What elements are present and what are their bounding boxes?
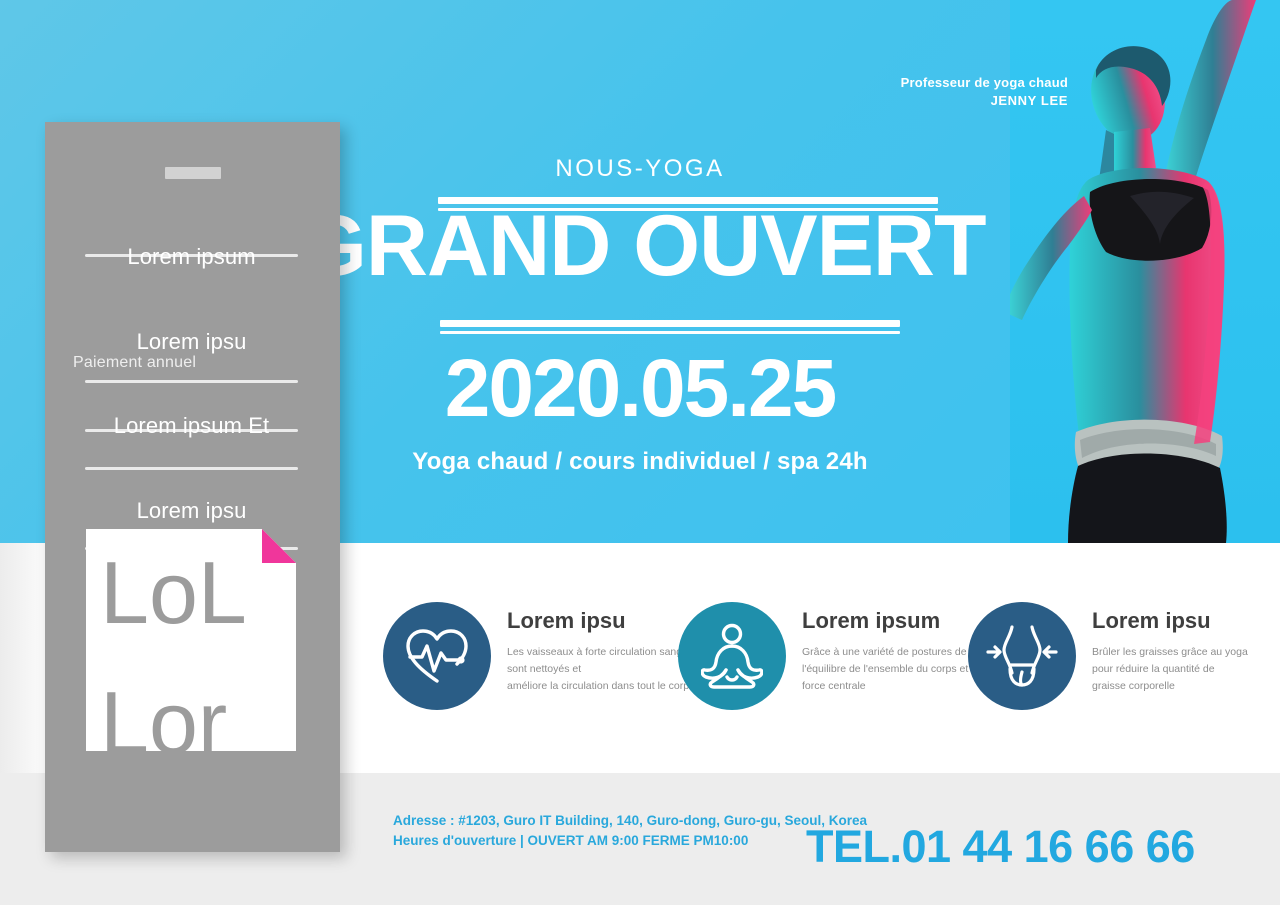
feature-body-line: force centrale bbox=[802, 678, 992, 695]
rule-above-date bbox=[440, 320, 900, 334]
feature-text: Lorem ipsu Les vaisseaux à forte circula… bbox=[507, 602, 702, 695]
feature-text: Lorem ipsum Grâce à une variété de postu… bbox=[802, 602, 992, 695]
panel-placeholder-chip bbox=[165, 167, 221, 179]
feature-title: Lorem ipsu bbox=[507, 608, 702, 634]
feature-body-line: l'équilibre de l'ensemble du corps et la bbox=[802, 661, 992, 678]
panel-divider bbox=[85, 380, 298, 383]
footer-contact-block: Adresse : #1203, Guro IT Building, 140, … bbox=[393, 811, 867, 851]
footer-telephone[interactable]: TEL.01 44 16 66 66 bbox=[806, 821, 1195, 873]
feature-title: Lorem ipsu bbox=[1092, 608, 1248, 634]
panel-row-label[interactable]: Lorem ipsu bbox=[85, 329, 298, 355]
card-subtitle: Paiement annuel bbox=[73, 354, 196, 372]
hero-tagline: Yoga chaud / cours individuel / spa 24h bbox=[300, 448, 980, 476]
event-date: 2020.05.25 bbox=[300, 348, 980, 430]
page-title: GRAND OUVERT bbox=[300, 203, 980, 289]
panel-row-label[interactable]: Lorem ipsu bbox=[85, 498, 298, 524]
meditation-lotus-icon bbox=[678, 602, 786, 710]
feature-card: Lorem ipsu Brûler les graisses grâce au … bbox=[968, 602, 1248, 710]
teacher-credit: Professeur de yoga chaud JENNY LEE bbox=[901, 74, 1068, 109]
card-line-2: Lor bbox=[100, 679, 227, 767]
brand-name: NOUS-YOGA bbox=[300, 155, 980, 183]
feature-body-line: Grâce à une variété de postures de yoga bbox=[802, 644, 992, 661]
panel-row-label[interactable]: Lorem ipsum Et bbox=[85, 413, 298, 439]
feature-body-line: Les vaisseaux à forte circulation sangui… bbox=[507, 644, 702, 661]
panel-divider bbox=[85, 467, 298, 470]
feature-body-line: sont nettoyés et bbox=[507, 661, 702, 678]
pricing-card[interactable]: LoL Lor bbox=[86, 529, 296, 751]
feature-text: Lorem ipsu Brûler les graisses grâce au … bbox=[1092, 602, 1248, 695]
slim-waist-arrows-icon bbox=[968, 602, 1076, 710]
hero-center-block: NOUS-YOGA GRAND OUVERT 2020.05.25 Yoga c… bbox=[300, 0, 980, 543]
footer-hours: Heures d'ouverture | OUVERT AM 9:00 FERM… bbox=[393, 831, 867, 851]
panel-row-label[interactable]: Lorem ipsum bbox=[85, 244, 298, 270]
feature-body-line: graisse corporelle bbox=[1092, 678, 1248, 695]
card-line-1: LoL bbox=[100, 549, 247, 637]
footer-address: Adresse : #1203, Guro IT Building, 140, … bbox=[393, 811, 867, 831]
teacher-name: JENNY LEE bbox=[901, 92, 1068, 110]
teacher-role: Professeur de yoga chaud bbox=[901, 74, 1068, 92]
feature-body: Grâce à une variété de postures de yoga … bbox=[802, 644, 992, 695]
feature-title: Lorem ipsum bbox=[802, 608, 992, 634]
feature-body-line: pour réduire la quantité de bbox=[1092, 661, 1248, 678]
feature-body: Les vaisseaux à forte circulation sangui… bbox=[507, 644, 702, 695]
heart-pulse-icon bbox=[383, 602, 491, 710]
feature-body: Brûler les graisses grâce au yoga pour r… bbox=[1092, 644, 1248, 695]
feature-card: Lorem ipsum Grâce à une variété de postu… bbox=[678, 602, 992, 710]
feature-body-line: Brûler les graisses grâce au yoga bbox=[1092, 644, 1248, 661]
feature-body-line: améliore la circulation dans tout le cor… bbox=[507, 678, 702, 695]
feature-card: Lorem ipsu Les vaisseaux à forte circula… bbox=[383, 602, 702, 710]
yoga-poster: Professeur de yoga chaud JENNY LEE NOUS-… bbox=[0, 0, 1280, 905]
